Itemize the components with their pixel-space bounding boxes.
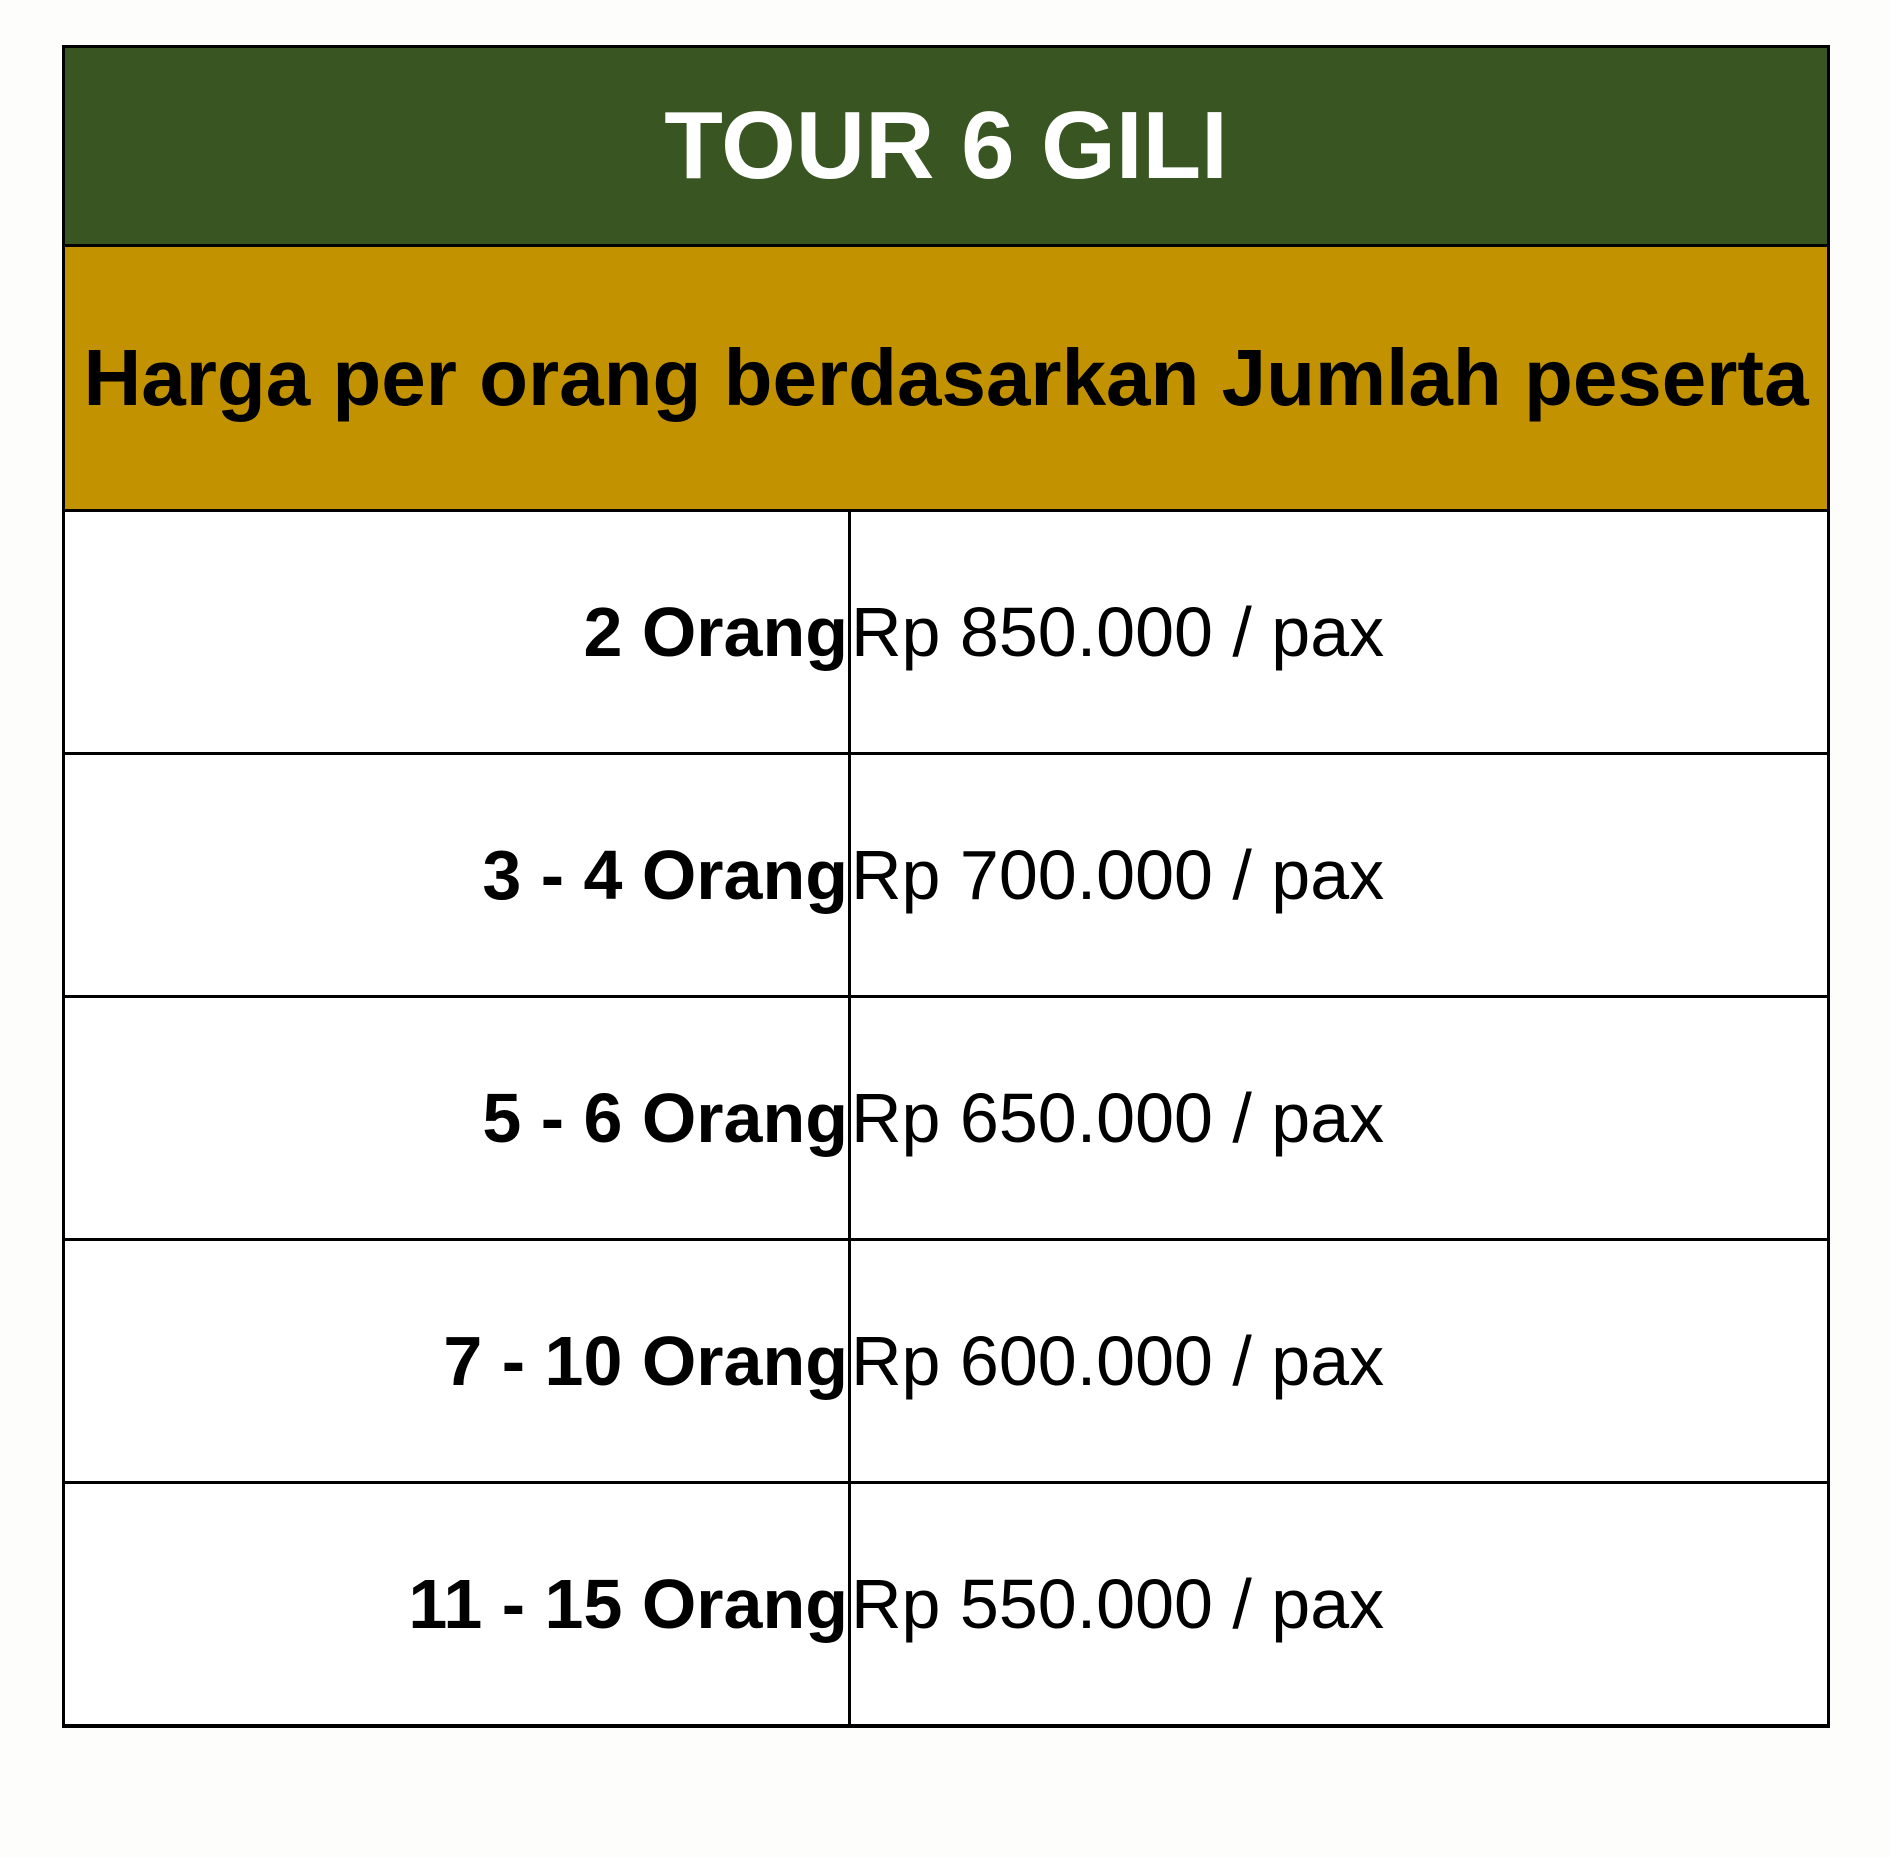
row-price-cell: Rp 550.000 / pax [850,1483,1829,1727]
row-price-cell: Rp 650.000 / pax [850,997,1829,1240]
table-row: 7 - 10 Orang Rp 600.000 / pax [64,1240,1829,1483]
table-row: 11 - 15 Orang Rp 550.000 / pax [64,1483,1829,1727]
row-quantity-cell: 3 - 4 Orang [64,754,850,997]
row-price-cell: Rp 850.000 / pax [850,511,1829,754]
page-canvas: TOUR 6 GILI Harga per orang berdasarkan … [0,0,1890,1857]
table-row: 5 - 6 Orang Rp 650.000 / pax [64,997,1829,1240]
table-title-cell: TOUR 6 GILI [64,47,1829,246]
row-quantity-cell: 11 - 15 Orang [64,1483,850,1727]
row-price-cell: Rp 600.000 / pax [850,1240,1829,1483]
row-price-cell: Rp 700.000 / pax [850,754,1829,997]
table-subtitle-row: Harga per orang berdasarkan Jumlah peser… [64,246,1829,511]
tour-price-table: TOUR 6 GILI Harga per orang berdasarkan … [62,45,1830,1728]
table-row: 2 Orang Rp 850.000 / pax [64,511,1829,754]
row-quantity-cell: 2 Orang [64,511,850,754]
table-title-row: TOUR 6 GILI [64,47,1829,246]
table-row: 3 - 4 Orang Rp 700.000 / pax [64,754,1829,997]
row-quantity-cell: 7 - 10 Orang [64,1240,850,1483]
table-subtitle-cell: Harga per orang berdasarkan Jumlah peser… [64,246,1829,511]
row-quantity-cell: 5 - 6 Orang [64,997,850,1240]
page-title: TOUR 6 GILI [664,92,1228,199]
table-subtitle: Harga per orang berdasarkan Jumlah peser… [83,333,1808,422]
